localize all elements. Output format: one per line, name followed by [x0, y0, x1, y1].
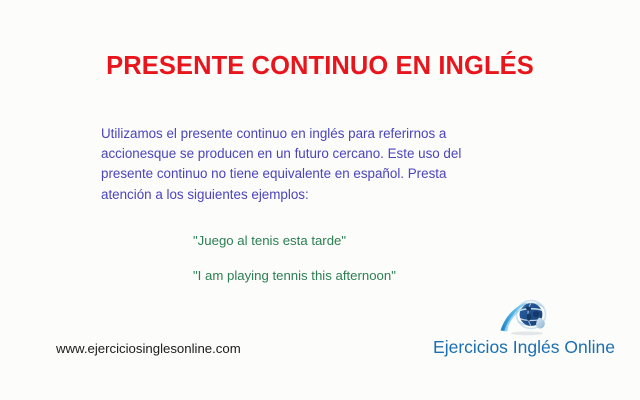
site-url: www.ejerciciosinglesonline.com: [56, 341, 241, 356]
brand-logo: Ejercicios Inglés Online: [424, 297, 624, 363]
examples-list: "Juego al tenis esta tarde" "I am playin…: [193, 232, 573, 284]
page-title: PRESENTE CONTINUO EN INGLÉS: [0, 52, 640, 81]
example-line-spanish: "Juego al tenis esta tarde": [193, 232, 573, 249]
logo-wordmark: Ejercicios Inglés Online: [424, 337, 624, 358]
slide-canvas: PRESENTE CONTINUO EN INGLÉS Utilizamos e…: [0, 0, 640, 400]
globe-swoosh-icon: [498, 297, 554, 337]
example-line-english: "I am playing tennis this afternoon": [193, 267, 573, 284]
body-paragraph: Utilizamos el presente continuo en inglé…: [101, 124, 491, 205]
